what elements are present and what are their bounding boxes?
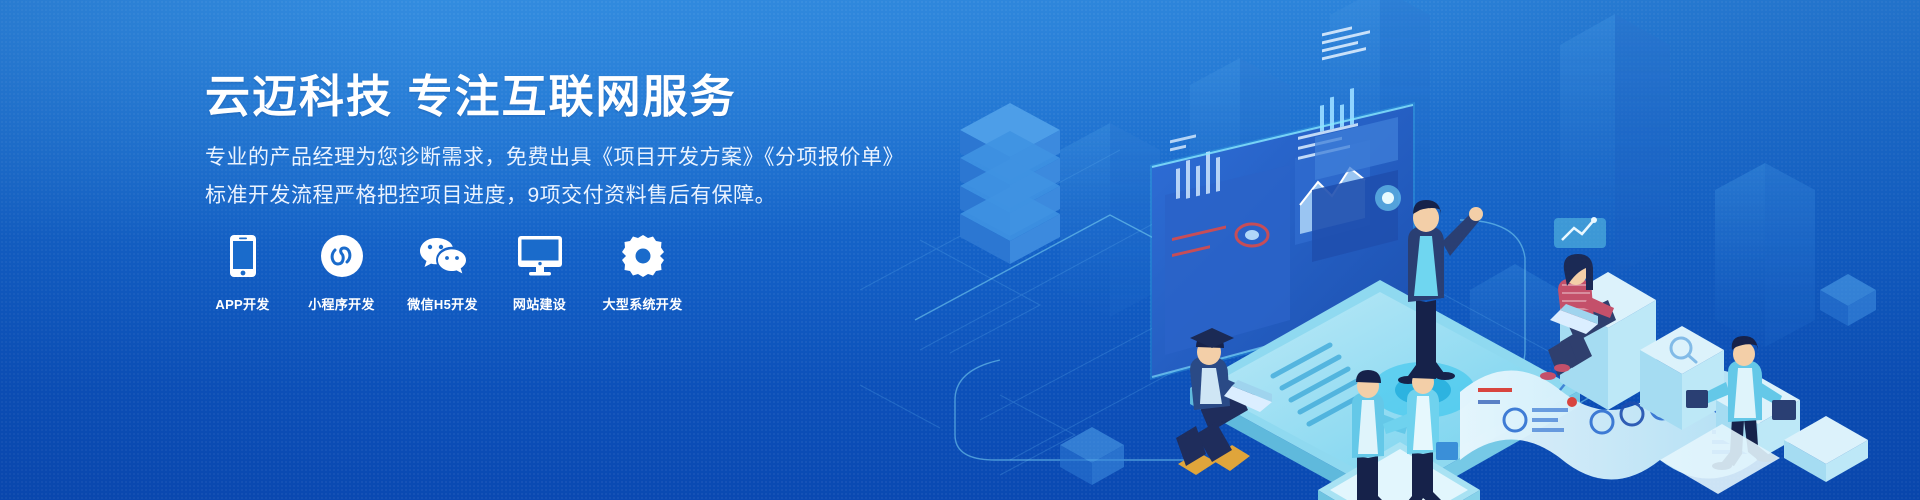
subtitle-line-2: 标准开发流程严格把控项目进度，9项交付资料售后有保障。 — [205, 185, 776, 206]
service-label: APP开发 — [215, 294, 269, 313]
page-title: 云迈科技 专注互联网服务 — [205, 74, 737, 119]
isometric-illustration — [860, 0, 1920, 500]
service-icon-list: APP开发 小程序开发 — [205, 234, 680, 313]
hero-copy: 云迈科技 专注互联网服务 专业的产品经理为您诊断需求，免费出具《项目开发方案》《… — [205, 0, 965, 500]
service-item-large-system[interactable]: 大型系统开发 — [605, 234, 680, 313]
wechat-icon — [419, 234, 467, 278]
service-label: 小程序开发 — [308, 294, 375, 313]
service-item-mini-program[interactable]: 小程序开发 — [304, 234, 379, 313]
hero-banner: 云迈科技 专注互联网服务 专业的产品经理为您诊断需求，免费出具《项目开发方案》《… — [0, 0, 1920, 500]
service-item-website[interactable]: 网站建设 — [502, 234, 577, 313]
service-label: 网站建设 — [513, 294, 566, 313]
monitor-icon — [518, 234, 562, 278]
service-item-app[interactable]: APP开发 — [205, 234, 280, 313]
service-label: 大型系统开发 — [603, 294, 683, 313]
mobile-phone-icon — [230, 234, 256, 278]
mini-program-icon — [321, 234, 363, 278]
subtitle-line-1: 专业的产品经理为您诊断需求，免费出具《项目开发方案》《分项报价单》 — [205, 147, 904, 168]
service-label: 微信H5开发 — [407, 294, 477, 313]
service-item-wechat-h5[interactable]: 微信H5开发 — [405, 234, 480, 313]
gear-icon — [622, 234, 664, 278]
